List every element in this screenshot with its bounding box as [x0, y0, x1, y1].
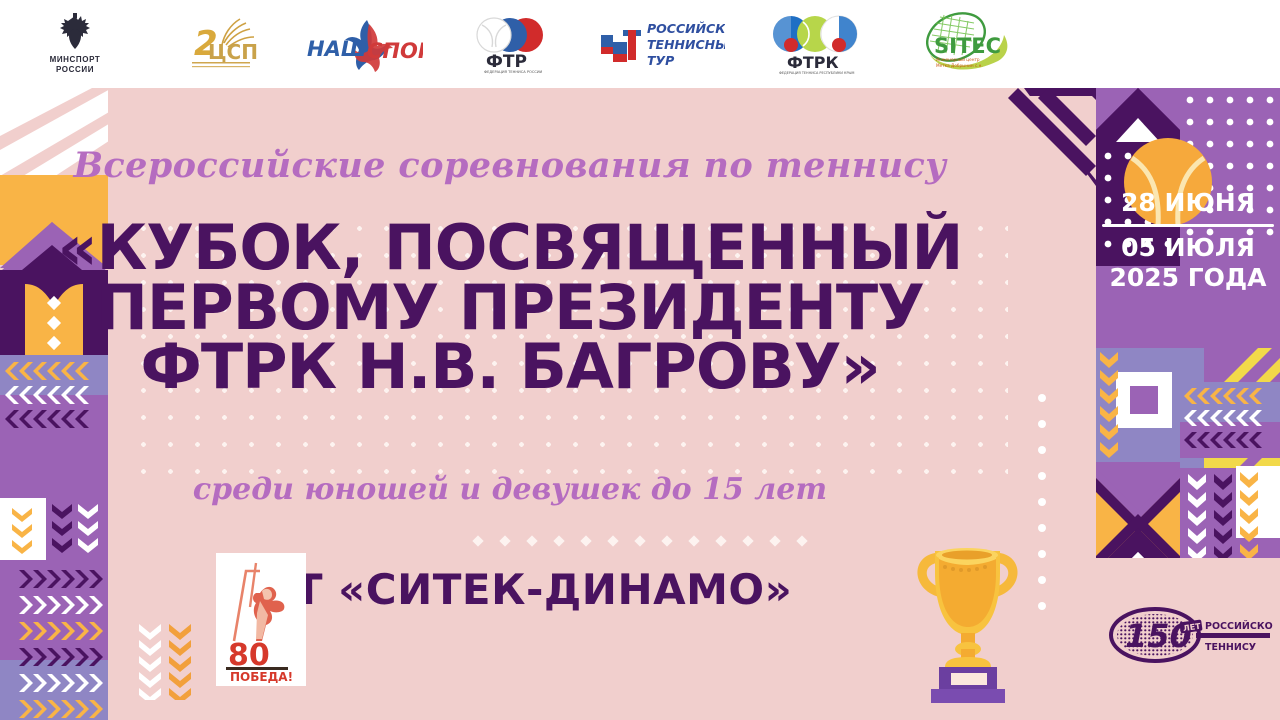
csp-wheat-icon: 2 ЦСП [178, 15, 262, 73]
venue-name: СКТ «СИТЕК-ДИНАМО» [0, 565, 1020, 614]
sitec-sub1: Инженерный центр [936, 57, 980, 62]
ftrk-subtext: ФЕДЕРАЦИЯ ТЕННИСА РЕСПУБЛИКИ КРЫМ [779, 71, 854, 75]
sport-text: СПОРТ [367, 39, 423, 63]
tournament-poster: МИНСПОРТ РОССИИ 2 ЦСП НАШ [0, 0, 1280, 720]
sitek-logo: SITEC Инженерный центр Метка Добрынин с.… [890, 9, 1040, 79]
diamond-divider [440, 537, 840, 551]
trophy-icon [905, 527, 1030, 707]
anniversary-line2: ТЕННИСУ [1205, 642, 1257, 653]
date-divider [1102, 224, 1274, 227]
rtt-line2: ТЕННИСНЫЙ [647, 37, 725, 52]
title-line-3: ФТРК Н.В. БАГРОВУ» [0, 337, 1020, 397]
rtt-line1: РОССИЙСКИЙ [647, 21, 725, 36]
ftrk-balls-icon: ФТРК ФЕДЕРАЦИЯ ТЕННИСА РЕСПУБЛИКИ КРЫМ [765, 12, 865, 76]
sitec-sub2: Метка Добрынин с.н. [936, 63, 983, 68]
event-kicker: Всероссийские соревнования по теннису [0, 145, 1020, 186]
ftrk-logo: ФТРК ФЕДЕРАЦИЯ ТЕННИСА РЕСПУБЛИКИ КРЫМ [740, 12, 890, 76]
minsport-russia-logo: МИНСПОРТ РОССИИ [0, 13, 150, 75]
sitec-text: SITEC [934, 34, 1001, 58]
ftr-subtext: ФЕДЕРАЦИЯ ТЕННИСА РОССИИ [484, 70, 543, 74]
nash-sport-logo: НАШ СПОРТ [290, 16, 440, 72]
ftr-text: ФТР [486, 52, 527, 72]
anniversary-number: 150 [1125, 617, 1192, 655]
date-from: 28 ИЮНЯ [1096, 188, 1280, 219]
motherland-calls-icon: 80 ПОБЕДА! [216, 553, 306, 686]
anniversary-unit: ЛЕТ [1183, 622, 1202, 633]
title-line-1: «КУБОК, ПОСВЯЩЕННЫЙ [0, 218, 1020, 278]
csp-label: ЦСП [208, 40, 258, 64]
double-eagle-icon [53, 13, 97, 53]
title-line-2: ПЕРВОМУ ПРЕЗИДЕНТУ [0, 278, 1020, 338]
ftr-logo: ФТР ФЕДЕРАЦИЯ ТЕННИСА РОССИИ [440, 13, 580, 75]
date-to: 05 ИЮЛЯ [1096, 233, 1280, 264]
minsport-line2: РОССИИ [50, 65, 101, 75]
sitec-racket-icon: SITEC Инженерный центр Метка Добрынин с.… [910, 9, 1020, 79]
victory-caption: ПОБЕДА! [230, 670, 293, 684]
age-category: среди юношей и девушек до 15 лет [0, 472, 1020, 507]
anniversary-line1: РОССИЙСКОМУ [1205, 620, 1273, 632]
anniversary-150-logo: 150 ЛЕТ РОССИЙСКОМУ ТЕННИСУ [1108, 605, 1273, 667]
ftrk-text: ФТРК [787, 53, 839, 72]
page-title: «КУБОК, ПОСВЯЩЕННЫЙ ПЕРВОМУ ПРЕЗИДЕНТУ Ф… [0, 218, 1020, 397]
date-year: 2025 ГОДА [1096, 263, 1280, 294]
event-dates: 28 ИЮНЯ 05 ИЮЛЯ 2025 ГОДА [1096, 188, 1280, 294]
csp-25-logo: 2 ЦСП [150, 15, 290, 73]
nash-sport-icon: НАШ СПОРТ [307, 16, 423, 72]
ftr-balls-icon: ФТР ФЕДЕРАЦИЯ ТЕННИСА РОССИИ [464, 13, 556, 75]
minsport-line1: МИНСПОРТ [50, 55, 101, 65]
rtt-icon: РОССИЙСКИЙ ТЕННИСНЫЙ ТУР [595, 16, 725, 72]
russian-tennis-tour-logo: РОССИЙСКИЙ ТЕННИСНЫЙ ТУР [580, 16, 740, 72]
victory-80-poster: 80 ПОБЕДА! [216, 553, 306, 686]
sponsor-logo-row: МИНСПОРТ РОССИИ 2 ЦСП НАШ [0, 0, 1040, 88]
chevron-cluster-left [135, 620, 205, 700]
nash-text: НАШ [307, 37, 367, 61]
rtt-line3: ТУР [647, 53, 674, 68]
right-decoration-panel [1008, 0, 1280, 720]
